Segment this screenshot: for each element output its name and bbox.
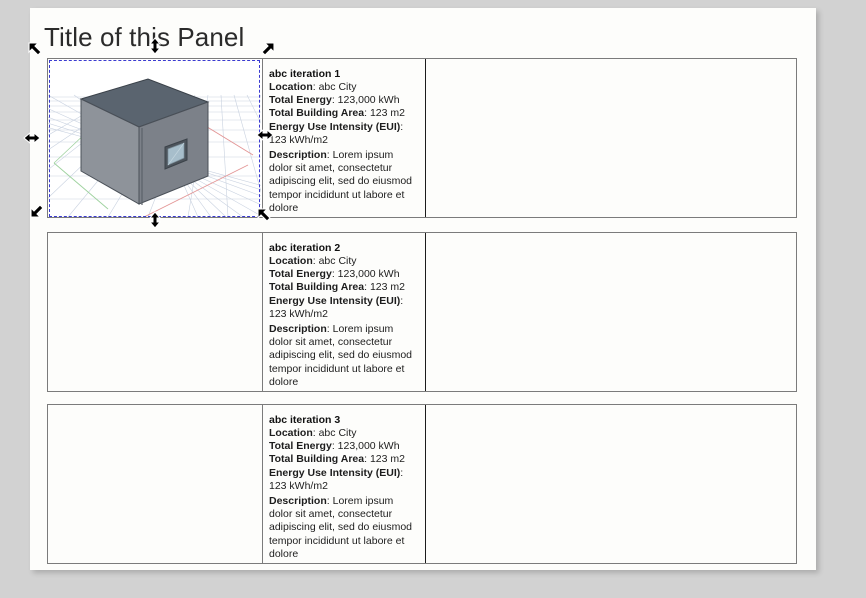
field-total-building-area-value: 123 m2 <box>370 107 405 119</box>
field-total-building-area-label: Total Building Area <box>269 107 364 119</box>
field-eui-label: Energy Use Intensity (EUI) <box>269 467 400 479</box>
field-location: Location: abc City <box>269 81 419 94</box>
resize-ns-icon <box>145 36 165 56</box>
resize-ns-icon <box>145 210 165 230</box>
field-total-building-area: Total Building Area: 123 m2 <box>269 107 419 120</box>
field-total-energy-value: 123,000 kWh <box>338 94 400 106</box>
iteration-heading: abc iteration 3 <box>269 413 419 427</box>
field-total-energy: Total Energy: 123,000 kWh <box>269 268 419 281</box>
resize-handle-bottom-left[interactable] <box>28 200 48 220</box>
panel-surface: Title of this Panel <box>30 8 816 570</box>
field-description: Description: Lorem ipsum dolor sit amet,… <box>269 149 419 215</box>
three-d-viewport[interactable] <box>48 59 262 217</box>
model-viewport-cell[interactable] <box>48 233 263 391</box>
field-total-energy: Total Energy: 123,000 kWh <box>269 94 419 107</box>
model-viewport-cell[interactable] <box>48 405 263 563</box>
field-total-building-area: Total Building Area: 123 m2 <box>269 281 419 294</box>
field-total-building-area-label: Total Building Area <box>269 453 364 465</box>
field-total-energy-label: Total Energy <box>269 94 332 106</box>
resize-handle-top-left[interactable] <box>26 40 46 60</box>
model-viewport-cell[interactable] <box>48 59 263 217</box>
field-total-building-area-label: Total Building Area <box>269 281 364 293</box>
resize-handle-middle-right[interactable] <box>255 125 275 145</box>
field-description-label: Description <box>269 323 327 335</box>
resize-handle-bottom-center[interactable] <box>145 210 165 230</box>
field-total-energy-value: 123,000 kWh <box>338 440 400 452</box>
iteration-info-cell: abc iteration 1 Location: abc City Total… <box>263 59 426 217</box>
building-massing-box-icon <box>48 59 261 217</box>
iteration-row[interactable]: abc iteration 1 Location: abc City Total… <box>47 58 797 218</box>
field-eui-value: 123 kWh/m2 <box>269 480 328 492</box>
iteration-heading: abc iteration 2 <box>269 241 419 255</box>
field-location-label: Location <box>269 81 313 93</box>
field-location: Location: abc City <box>269 255 419 268</box>
field-description-label: Description <box>269 149 327 161</box>
resize-handle-top-right[interactable] <box>257 40 277 60</box>
field-description: Description: Lorem ipsum dolor sit amet,… <box>269 323 419 389</box>
field-total-energy-value: 123,000 kWh <box>338 268 400 280</box>
iteration-info-cell: abc iteration 2 Location: abc City Total… <box>263 233 426 391</box>
resize-handle-bottom-right[interactable] <box>255 206 275 226</box>
field-eui: Energy Use Intensity (EUI): 123 kWh/m2 <box>269 295 419 321</box>
iteration-extra-cell[interactable] <box>426 405 796 563</box>
field-total-energy-label: Total Energy <box>269 268 332 280</box>
field-location-value: abc City <box>319 427 357 439</box>
iteration-info-cell: abc iteration 3 Location: abc City Total… <box>263 405 426 563</box>
field-location-value: abc City <box>319 255 357 267</box>
field-eui-value: 123 kWh/m2 <box>269 134 328 146</box>
iteration-heading: abc iteration 1 <box>269 67 419 81</box>
resize-ew-icon <box>255 125 275 145</box>
iteration-row[interactable]: abc iteration 3 Location: abc City Total… <box>47 404 797 564</box>
resize-ew-icon <box>22 128 42 148</box>
resize-handle-middle-left[interactable] <box>22 128 42 148</box>
iteration-extra-cell[interactable] <box>426 233 796 391</box>
field-location-value: abc City <box>319 81 357 93</box>
resize-handle-top-center[interactable] <box>145 36 165 56</box>
field-location-label: Location <box>269 427 313 439</box>
field-eui: Energy Use Intensity (EUI): 123 kWh/m2 <box>269 121 419 147</box>
field-eui-value: 123 kWh/m2 <box>269 308 328 320</box>
field-description: Description: Lorem ipsum dolor sit amet,… <box>269 495 419 561</box>
field-location-label: Location <box>269 255 313 267</box>
field-total-building-area-value: 123 m2 <box>370 453 405 465</box>
colon: : <box>400 467 403 479</box>
field-total-energy-label: Total Energy <box>269 440 332 452</box>
field-description-label: Description <box>269 495 327 507</box>
field-eui-label: Energy Use Intensity (EUI) <box>269 121 400 133</box>
colon: : <box>400 121 403 133</box>
field-total-building-area-value: 123 m2 <box>370 281 405 293</box>
resize-nwse-icon <box>26 40 46 60</box>
field-total-energy: Total Energy: 123,000 kWh <box>269 440 419 453</box>
field-eui-label: Energy Use Intensity (EUI) <box>269 295 400 307</box>
resize-nesw-icon <box>257 40 277 60</box>
iteration-row[interactable]: abc iteration 2 Location: abc City Total… <box>47 232 797 392</box>
resize-nwse-icon <box>255 206 275 226</box>
resize-nesw-icon <box>28 200 48 220</box>
field-total-building-area: Total Building Area: 123 m2 <box>269 453 419 466</box>
colon: : <box>400 295 403 307</box>
field-location: Location: abc City <box>269 427 419 440</box>
field-eui: Energy Use Intensity (EUI): 123 kWh/m2 <box>269 467 419 493</box>
iteration-extra-cell[interactable] <box>426 59 796 217</box>
